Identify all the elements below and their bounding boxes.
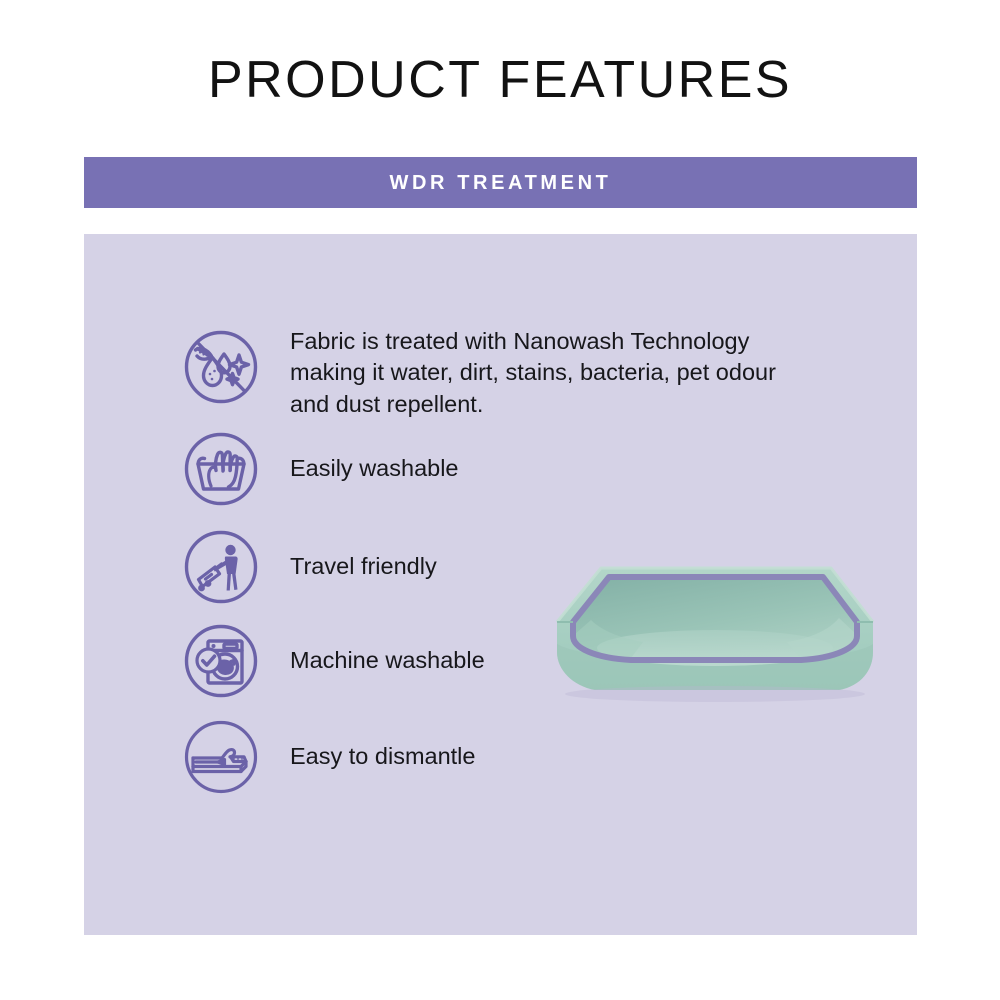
page-title: PRODUCT FEATURES — [0, 52, 1000, 109]
washing-machine-check-icon — [178, 618, 264, 704]
feature-label: Travel friendly — [290, 551, 437, 582]
mattress-cover-removal-icon — [178, 714, 264, 800]
section-banner-label: WDR TREATMENT — [390, 173, 612, 193]
feature-row: Easily washable — [178, 426, 459, 512]
feature-row: Machine washable — [178, 618, 485, 704]
feature-row: Fabric is treated with Nanowash Technolo… — [178, 324, 798, 420]
pet-bed-illustration — [539, 544, 889, 734]
traveller-suitcase-icon — [178, 524, 264, 610]
feature-row: Easy to dismantle — [178, 714, 475, 800]
feature-label: Machine washable — [290, 645, 485, 676]
hand-wash-icon — [178, 426, 264, 512]
no-water-stain-icon — [178, 324, 264, 410]
feature-label: Fabric is treated with Nanowash Technolo… — [290, 326, 798, 420]
feature-label: Easy to dismantle — [290, 741, 475, 772]
feature-row: Travel friendly — [178, 524, 437, 610]
feature-label: Easily washable — [290, 453, 459, 484]
features-panel: Fabric is treated with Nanowash Technolo… — [84, 234, 917, 935]
section-banner: WDR TREATMENT — [84, 157, 917, 208]
